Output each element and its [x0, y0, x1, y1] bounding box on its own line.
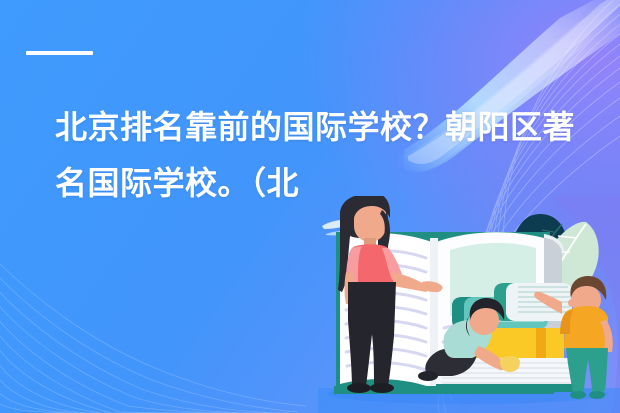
decorative-rule: [26, 51, 93, 55]
article-banner: 北京排名靠前的国际学校？朝阳区著名国际学校。（北: [0, 0, 620, 413]
page-title: 北京排名靠前的国际学校？朝阳区著名国际学校。（北: [55, 99, 575, 211]
reading-illustration: [318, 196, 620, 413]
